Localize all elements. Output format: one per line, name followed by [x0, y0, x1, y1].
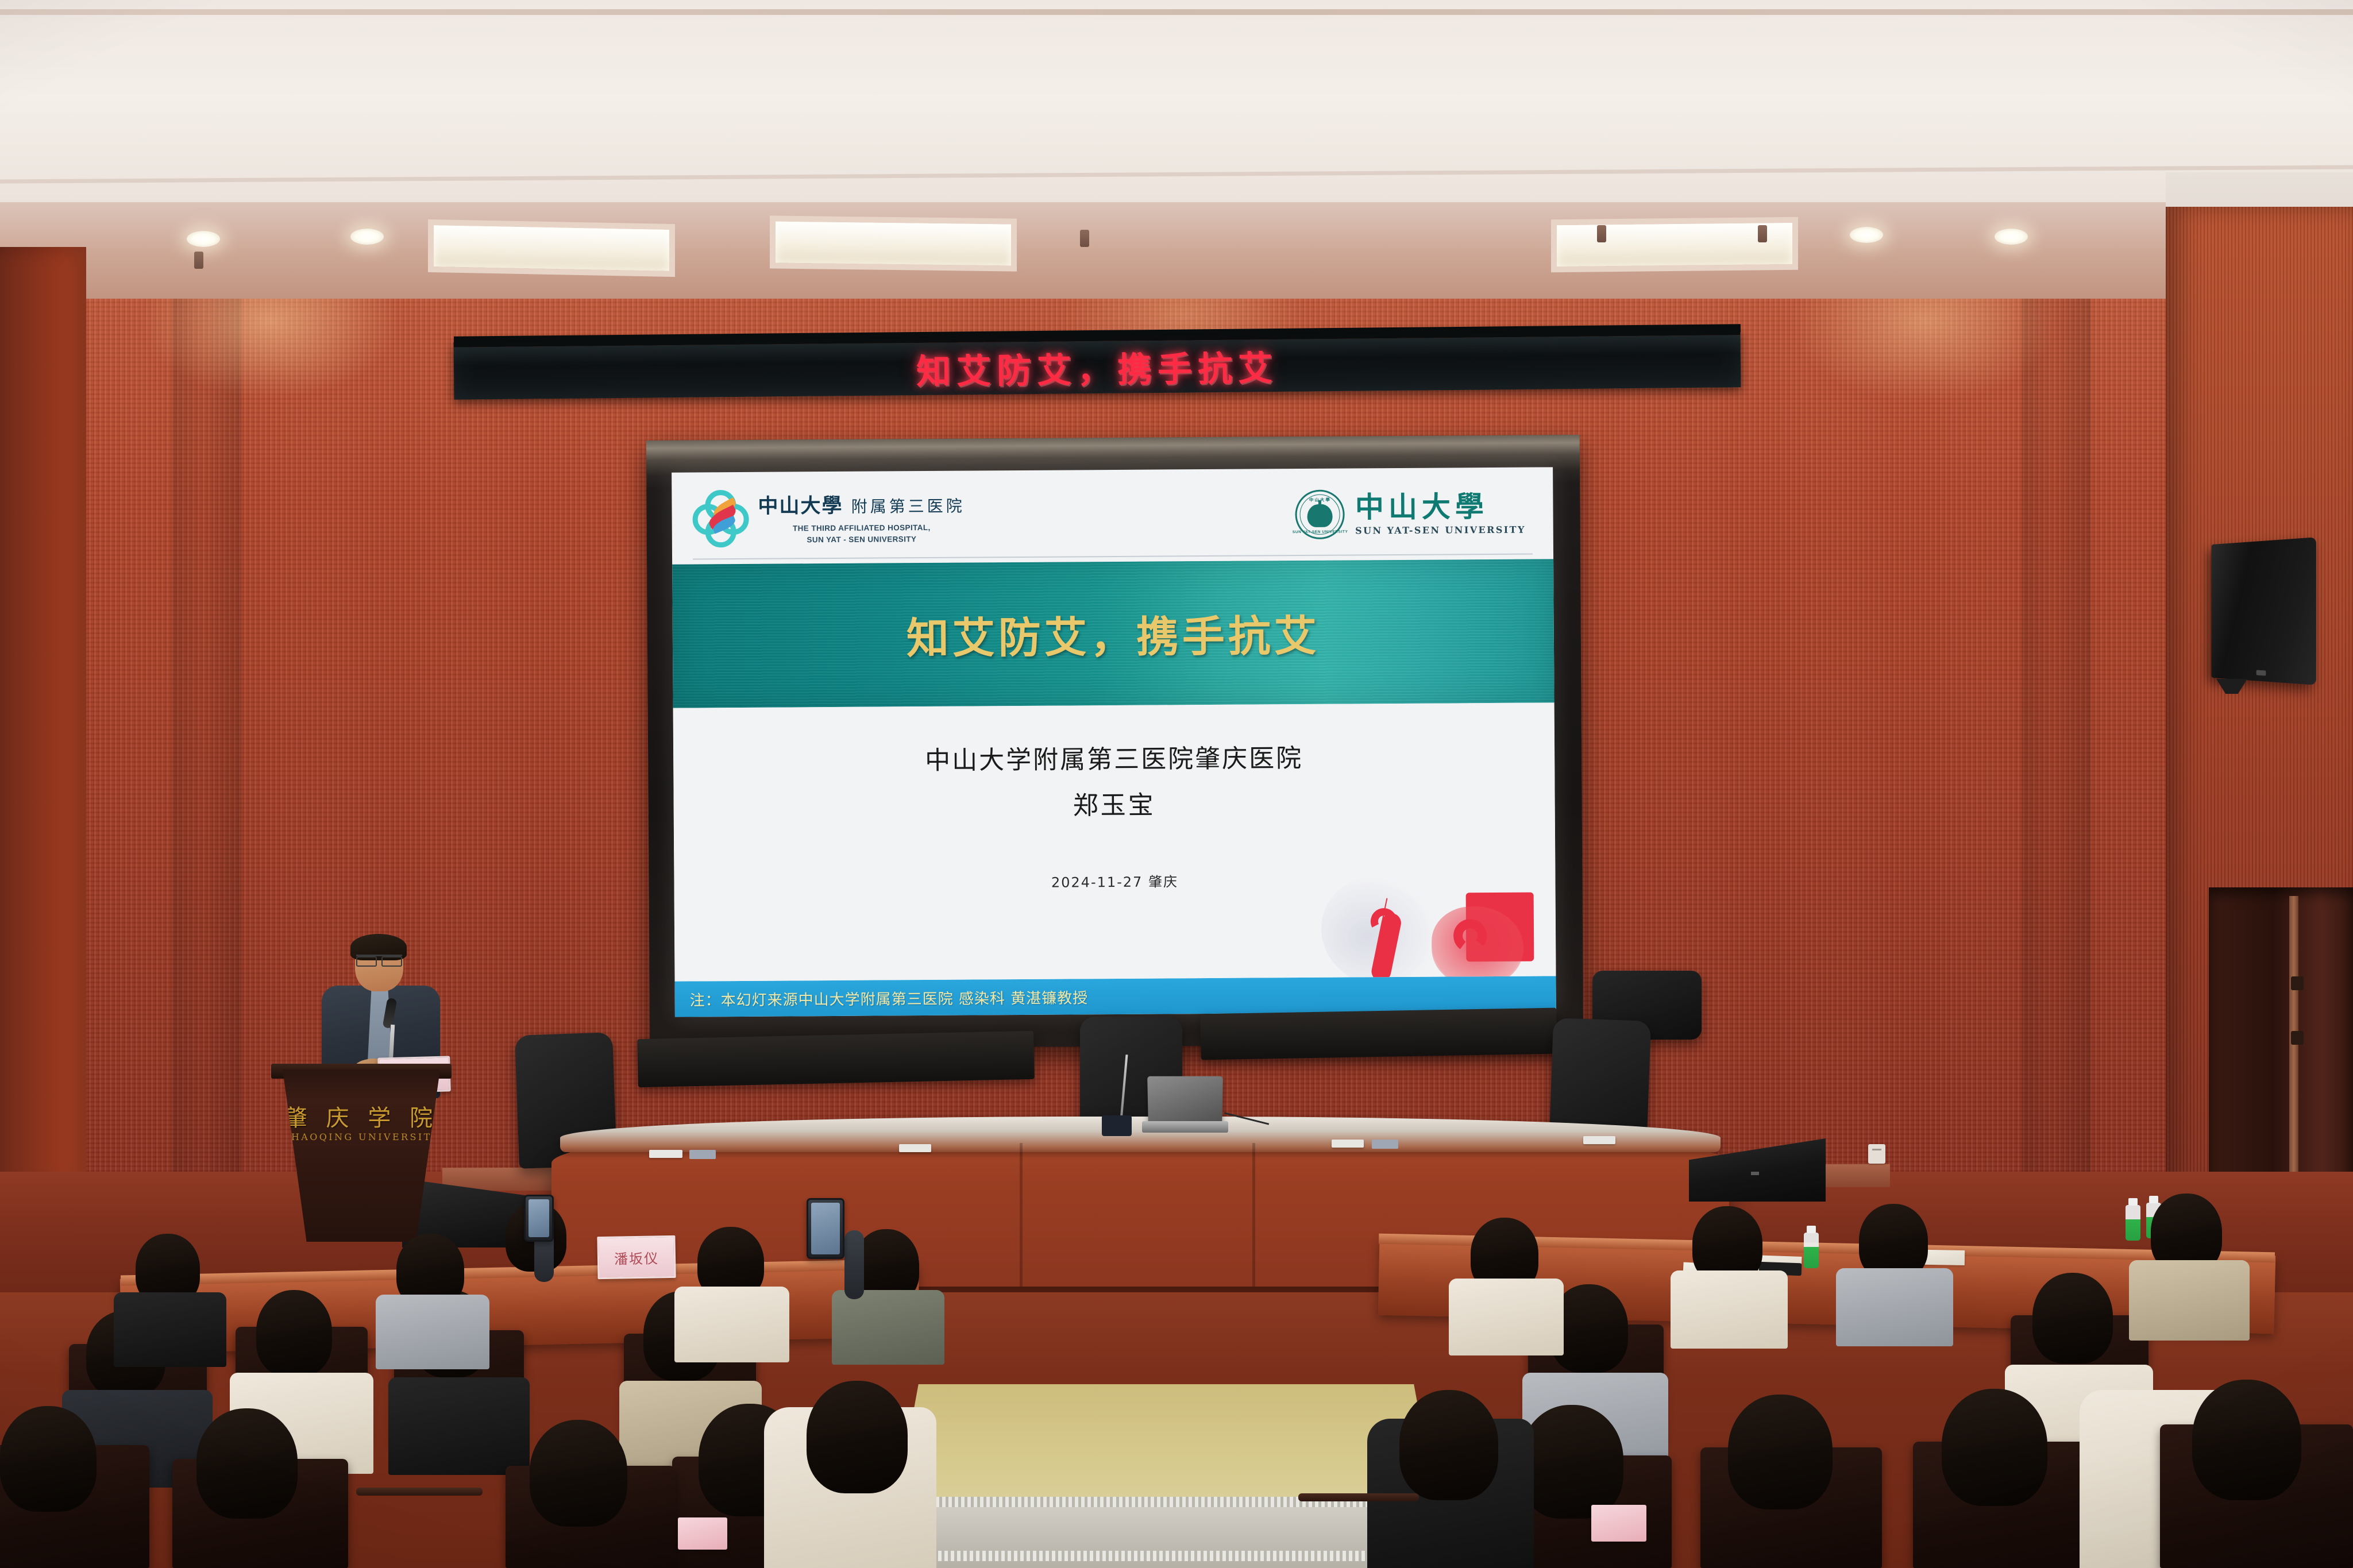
- audience-body: [832, 1290, 944, 1365]
- water-bottle[interactable]: [2126, 1198, 2140, 1241]
- audience-head: [2032, 1273, 2113, 1364]
- audience-head: [807, 1381, 908, 1493]
- desk-name-card: [1332, 1140, 1364, 1148]
- desk-panel-seam: [1252, 1143, 1255, 1287]
- hospital-logo-group: 中山大學 附属第三医院 THE THIRD AFFILIATED HOSPITA…: [692, 489, 965, 547]
- raised-phone-recording[interactable]: [524, 1195, 554, 1242]
- audience-body: [1836, 1268, 1953, 1346]
- right-wall-doorway[interactable]: [2209, 887, 2353, 1186]
- projection-screen-frame: 中山大學 附属第三医院 THE THIRD AFFILIATED HOSPITA…: [646, 435, 1583, 1049]
- sprinkler-icon: [1758, 225, 1767, 242]
- audience-head: [1942, 1389, 2047, 1506]
- sysu-seal-icon: 中山大學 SUN YAT-SEN UNIVERSITY: [1295, 490, 1345, 540]
- sprinkler-icon: [1597, 225, 1606, 242]
- desk-name-card: [1583, 1136, 1615, 1144]
- seat-armrest: [1298, 1493, 1419, 1501]
- desk-name-card: [899, 1144, 931, 1152]
- door-hinge-icon: [2291, 976, 2304, 990]
- slide-title: 知艾防艾，携手抗艾: [907, 601, 1321, 665]
- led-banner-text: 知艾防艾，携手抗艾: [916, 341, 1279, 394]
- door-hinge-icon: [2291, 1031, 2304, 1045]
- ceiling-light-panel-2: [770, 215, 1017, 271]
- downlight-icon: [1995, 229, 2028, 245]
- ceiling-seam-line: [0, 165, 2353, 183]
- audience-head: [1728, 1395, 1833, 1509]
- pink-handout[interactable]: [678, 1517, 727, 1550]
- hospital-name-cn-sub: 附属第三医院: [851, 497, 965, 516]
- slide-body: 中山大学附属第三医院肇庆医院 郑玉宝 2024-11-27 肇庆: [673, 702, 1556, 981]
- audience-body: [2129, 1260, 2250, 1341]
- lectern-name-cn: 肇 庆 学 院: [276, 1099, 447, 1133]
- lectern-name-en: ZHAOQING UNIVERSITY: [276, 1131, 447, 1142]
- glasses-icon: [356, 955, 402, 963]
- downlight-icon: [350, 229, 384, 245]
- seal-ring-text: SUN YAT-SEN UNIVERSITY: [1293, 530, 1348, 535]
- microphone-base-unit: [1102, 1115, 1132, 1136]
- audience-head: [2192, 1380, 2301, 1500]
- desk-name-card: [649, 1150, 682, 1158]
- audience-body: [114, 1292, 226, 1367]
- speaker-badge-icon: [1751, 1172, 1759, 1175]
- audience-head: [1520, 1405, 1623, 1519]
- stage-seat-backrest-row: [1200, 1008, 1557, 1060]
- audience-head: [196, 1408, 298, 1519]
- university-name-en: SUN YAT-SEN UNIVERSITY: [1355, 524, 1526, 536]
- slide-presenter-name: 郑玉宝: [673, 782, 1554, 824]
- downlight-icon: [187, 231, 220, 247]
- desk-microphone-base: [1372, 1140, 1398, 1149]
- wall-loudspeaker: [2212, 537, 2316, 685]
- hospital-name-cn: 中山大學 附属第三医院: [758, 489, 965, 519]
- front-table-placard-text: 潘坂仪: [614, 1247, 659, 1268]
- hospital-name-en-line1: THE THIRD AFFILIATED HOSPITAL,: [758, 522, 965, 535]
- downlight-icon: [1850, 227, 1883, 243]
- slide-header: 中山大學 附属第三医院 THE THIRD AFFILIATED HOSPITA…: [672, 467, 1553, 564]
- audience-head: [1399, 1390, 1498, 1500]
- presentation-slide: 中山大學 附属第三医院 THE THIRD AFFILIATED HOSPITA…: [672, 467, 1556, 1017]
- university-logo-group: 中山大學 SUN YAT-SEN UNIVERSITY 中山大學 SUN YAT…: [1295, 489, 1526, 539]
- raised-phone-recording[interactable]: [807, 1198, 844, 1259]
- hospital-cloud-flower-logo-icon: [692, 490, 749, 547]
- audience-body: [1671, 1270, 1788, 1349]
- audience-body: [1449, 1279, 1564, 1355]
- sprinkler-icon: [194, 252, 203, 269]
- laptop-screen[interactable]: [1147, 1076, 1223, 1124]
- seat-armrest: [356, 1488, 483, 1496]
- raised-arm: [844, 1230, 864, 1299]
- audience-body: [388, 1377, 530, 1475]
- sprinkler-icon: [1080, 230, 1089, 247]
- ceiling-light-panel-1: [428, 219, 675, 277]
- hospital-name-en: THE THIRD AFFILIATED HOSPITAL, SUN YAT -…: [758, 522, 965, 546]
- slide-header-divider: [693, 554, 1533, 560]
- slide-organization: 中山大学附属第三医院肇庆医院: [673, 736, 1554, 778]
- audience-head: [0, 1406, 97, 1512]
- left-side-wall: [0, 247, 86, 1189]
- audience-head: [256, 1290, 332, 1376]
- auditorium-photo: 知艾防艾，携手抗艾: [0, 0, 2353, 1568]
- stage-desk-top: [560, 1117, 1721, 1152]
- laptop-keyboard[interactable]: [1142, 1121, 1228, 1133]
- ceiling-trim-line: [0, 9, 2353, 15]
- wall-power-outlet[interactable]: [1868, 1144, 1885, 1164]
- front-table-placard: 潘坂仪: [597, 1235, 676, 1279]
- pink-handout[interactable]: [1591, 1505, 1646, 1542]
- hospital-name-en-line2: SUN YAT - SEN UNIVERSITY: [758, 534, 965, 546]
- seal-emblem-shape: [1307, 504, 1333, 527]
- hospital-name-cn-main: 中山大學: [758, 494, 843, 518]
- aids-ribbon-photo: [1308, 855, 1556, 978]
- wall-pilaster: [172, 299, 241, 1172]
- water-bottle[interactable]: [1804, 1226, 1819, 1268]
- stage-seat-backrest-row: [637, 1031, 1035, 1087]
- audience-head: [530, 1420, 627, 1527]
- university-name-cn: 中山大學: [1355, 492, 1526, 522]
- desk-panel-seam: [1020, 1143, 1023, 1287]
- audience-body: [376, 1295, 489, 1369]
- desk-microphone-base: [689, 1150, 716, 1159]
- slide-title-band: 知艾防艾，携手抗艾: [672, 559, 1554, 708]
- wall-pilaster: [2022, 299, 2091, 1172]
- slide-footer-note: 注：本幻灯来源中山大学附属第三医院 感染科 黄湛镰教授: [690, 986, 1089, 1010]
- audience-body: [674, 1287, 789, 1362]
